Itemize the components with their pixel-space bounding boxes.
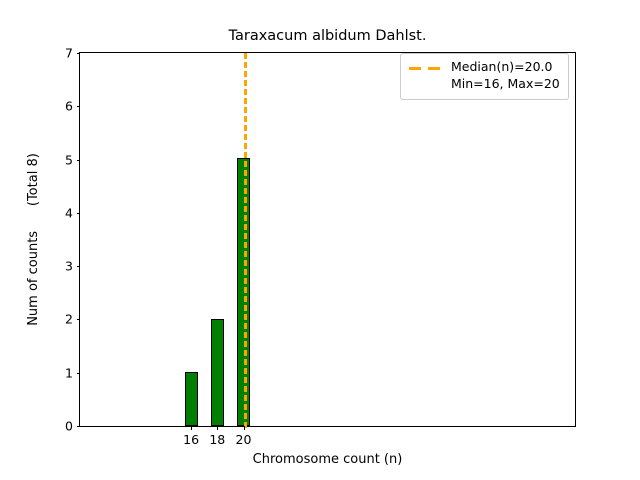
legend-label-line2: Min=16, Max=20 bbox=[451, 76, 560, 93]
plot-area: 0 1 2 3 4 5 6 bbox=[79, 52, 576, 427]
y-tick-label: 2 bbox=[65, 312, 73, 327]
y-tick-mark bbox=[77, 266, 81, 267]
legend-dashed-line-icon bbox=[409, 62, 443, 76]
median-line bbox=[244, 53, 247, 428]
legend-label-line1: Median(n)=20.0 bbox=[451, 59, 560, 76]
y-tick-mark bbox=[77, 160, 81, 161]
x-tick-label: 16 bbox=[183, 432, 199, 447]
y-axis-label-sub: (Total 8) bbox=[26, 153, 41, 206]
y-tick-label: 1 bbox=[65, 365, 73, 380]
chart-title: Taraxacum albidum Dahlst. bbox=[79, 28, 576, 44]
y-tick-label: 5 bbox=[65, 152, 73, 167]
plot-inner: 0 1 2 3 4 5 6 bbox=[80, 53, 575, 426]
bar-18 bbox=[211, 319, 224, 426]
y-axis-label: Num of counts (Total 8) bbox=[22, 52, 44, 427]
x-tick-mark bbox=[244, 426, 245, 430]
y-tick-label: 3 bbox=[65, 259, 73, 274]
x-tick-label: 18 bbox=[209, 432, 225, 447]
y-tick-mark bbox=[77, 319, 81, 320]
y-tick-label: 0 bbox=[65, 419, 73, 434]
y-tick-label: 4 bbox=[65, 205, 73, 220]
x-tick-mark bbox=[217, 426, 218, 430]
y-tick-mark bbox=[77, 213, 81, 214]
chart-figure: Taraxacum albidum Dahlst. 0 1 2 3 4 bbox=[0, 0, 640, 480]
y-axis-label-gap bbox=[26, 206, 41, 231]
bar-16 bbox=[185, 372, 198, 426]
y-axis-label-main: Num of counts bbox=[26, 231, 41, 326]
y-tick-mark bbox=[77, 426, 81, 427]
legend-label: Median(n)=20.0 Min=16, Max=20 bbox=[451, 59, 560, 93]
y-tick-mark bbox=[77, 373, 81, 374]
y-tick-mark bbox=[77, 53, 81, 54]
y-tick-label: 7 bbox=[65, 46, 73, 61]
y-tick-label: 6 bbox=[65, 99, 73, 114]
y-tick-mark bbox=[77, 106, 81, 107]
x-tick-label: 20 bbox=[236, 432, 252, 447]
x-tick-mark bbox=[191, 426, 192, 430]
legend: Median(n)=20.0 Min=16, Max=20 bbox=[400, 53, 569, 100]
x-axis-label: Chromosome count (n) bbox=[79, 452, 576, 467]
